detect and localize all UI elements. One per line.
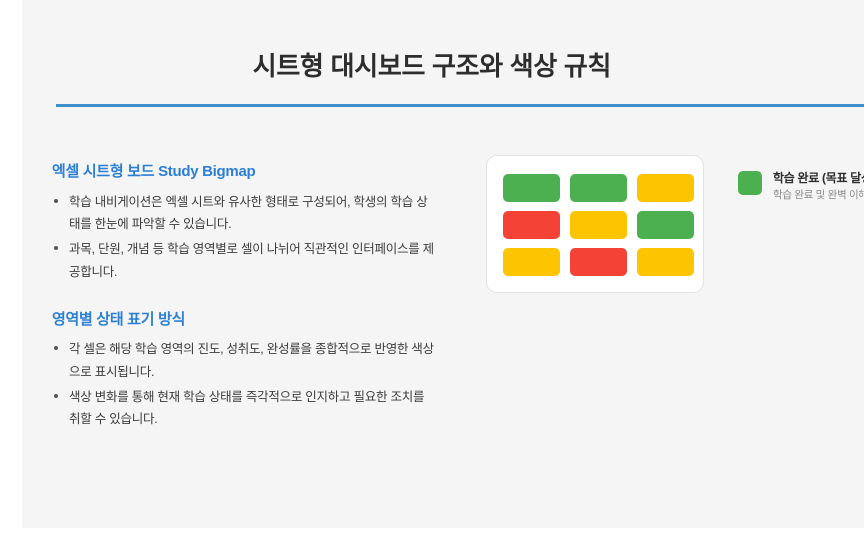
grid-cell[interactable] bbox=[503, 248, 560, 276]
grid-cell[interactable] bbox=[637, 211, 694, 239]
section-heading-status-notation: 영역별 상태 표기 방식 bbox=[52, 310, 437, 330]
title-underline-rule bbox=[56, 104, 864, 107]
slide-header: 시트형 대시보드 구조와 색상 규칙 bbox=[22, 0, 864, 110]
list-item-text: 색상 변화를 통해 현재 학습 상태를 즉각적으로 인지하고 필요한 조치를 취… bbox=[69, 390, 424, 427]
list-item: 과목, 단원, 개념 등 학습 영역별로 셀이 나뉘어 직관적인 인터페이스를 … bbox=[52, 238, 437, 284]
page-title: 시트형 대시보드 구조와 색상 규칙 bbox=[22, 46, 842, 83]
list-item: 색상 변화를 통해 현재 학습 상태를 즉각적으로 인지하고 필요한 조치를 취… bbox=[52, 386, 437, 432]
bullet-dot-icon bbox=[54, 246, 58, 250]
list-item-text: 학습 내비게이션은 엑셀 시트와 유사한 형태로 구성되어, 학생의 학습 상태… bbox=[69, 195, 427, 232]
grid-cell[interactable] bbox=[637, 248, 694, 276]
legend-text-block: 학습 완료 (목표 달성) 학습 완료 및 완벽 이해 bbox=[773, 170, 864, 203]
legend-swatch-icon bbox=[738, 171, 762, 195]
status-cell-grid bbox=[503, 174, 694, 276]
bullet-list-sheet-board: 학습 내비게이션은 엑셀 시트와 유사한 형태로 구성되어, 학생의 학습 상태… bbox=[52, 191, 437, 284]
legend-description: 학습 완료 및 완벽 이해 bbox=[773, 188, 864, 203]
visual-column: 학습 완료 (목표 달성) 학습 완료 및 완벽 이해 bbox=[464, 110, 864, 528]
slide-canvas: 시트형 대시보드 구조와 색상 규칙 엑셀 시트형 보드 Study Bigma… bbox=[22, 0, 864, 528]
grid-cell[interactable] bbox=[570, 248, 627, 276]
list-item: 학습 내비게이션은 엑셀 시트와 유사한 형태로 구성되어, 학생의 학습 상태… bbox=[52, 191, 437, 237]
bullet-list-status-notation: 각 셀은 해당 학습 영역의 진도, 성취도, 완성률을 종합적으로 반영한 색… bbox=[52, 338, 437, 431]
slide-content: 엑셀 시트형 보드 Study Bigmap 학습 내비게이션은 엑셀 시트와 … bbox=[22, 110, 864, 528]
grid-cell[interactable] bbox=[570, 211, 627, 239]
sheet-grid-card bbox=[486, 155, 704, 293]
bullet-dot-icon bbox=[54, 199, 58, 203]
grid-cell[interactable] bbox=[637, 174, 694, 202]
legend-item-complete: 학습 완료 (목표 달성) 학습 완료 및 완벽 이해 bbox=[738, 170, 864, 203]
list-item-text: 과목, 단원, 개념 등 학습 영역별로 셀이 나뉘어 직관적인 인터페이스를 … bbox=[69, 242, 434, 279]
legend: 학습 완료 (목표 달성) 학습 완료 및 완벽 이해 bbox=[738, 170, 864, 203]
bullet-dot-icon bbox=[54, 346, 58, 350]
legend-label: 학습 완료 (목표 달성) bbox=[773, 170, 864, 186]
list-item: 각 셀은 해당 학습 영역의 진도, 성취도, 완성률을 종합적으로 반영한 색… bbox=[52, 338, 437, 384]
grid-cell[interactable] bbox=[503, 211, 560, 239]
bullet-dot-icon bbox=[54, 394, 58, 398]
section-status-notation: 영역별 상태 표기 방식 각 셀은 해당 학습 영역의 진도, 성취도, 완성률… bbox=[52, 310, 437, 432]
section-heading-sheet-board: 엑셀 시트형 보드 Study Bigmap bbox=[52, 162, 437, 182]
section-sheet-board: 엑셀 시트형 보드 Study Bigmap 학습 내비게이션은 엑셀 시트와 … bbox=[52, 162, 437, 284]
grid-cell[interactable] bbox=[503, 174, 560, 202]
text-column: 엑셀 시트형 보드 Study Bigmap 학습 내비게이션은 엑셀 시트와 … bbox=[52, 162, 437, 433]
grid-cell[interactable] bbox=[570, 174, 627, 202]
list-item-text: 각 셀은 해당 학습 영역의 진도, 성취도, 완성률을 종합적으로 반영한 색… bbox=[69, 342, 434, 379]
